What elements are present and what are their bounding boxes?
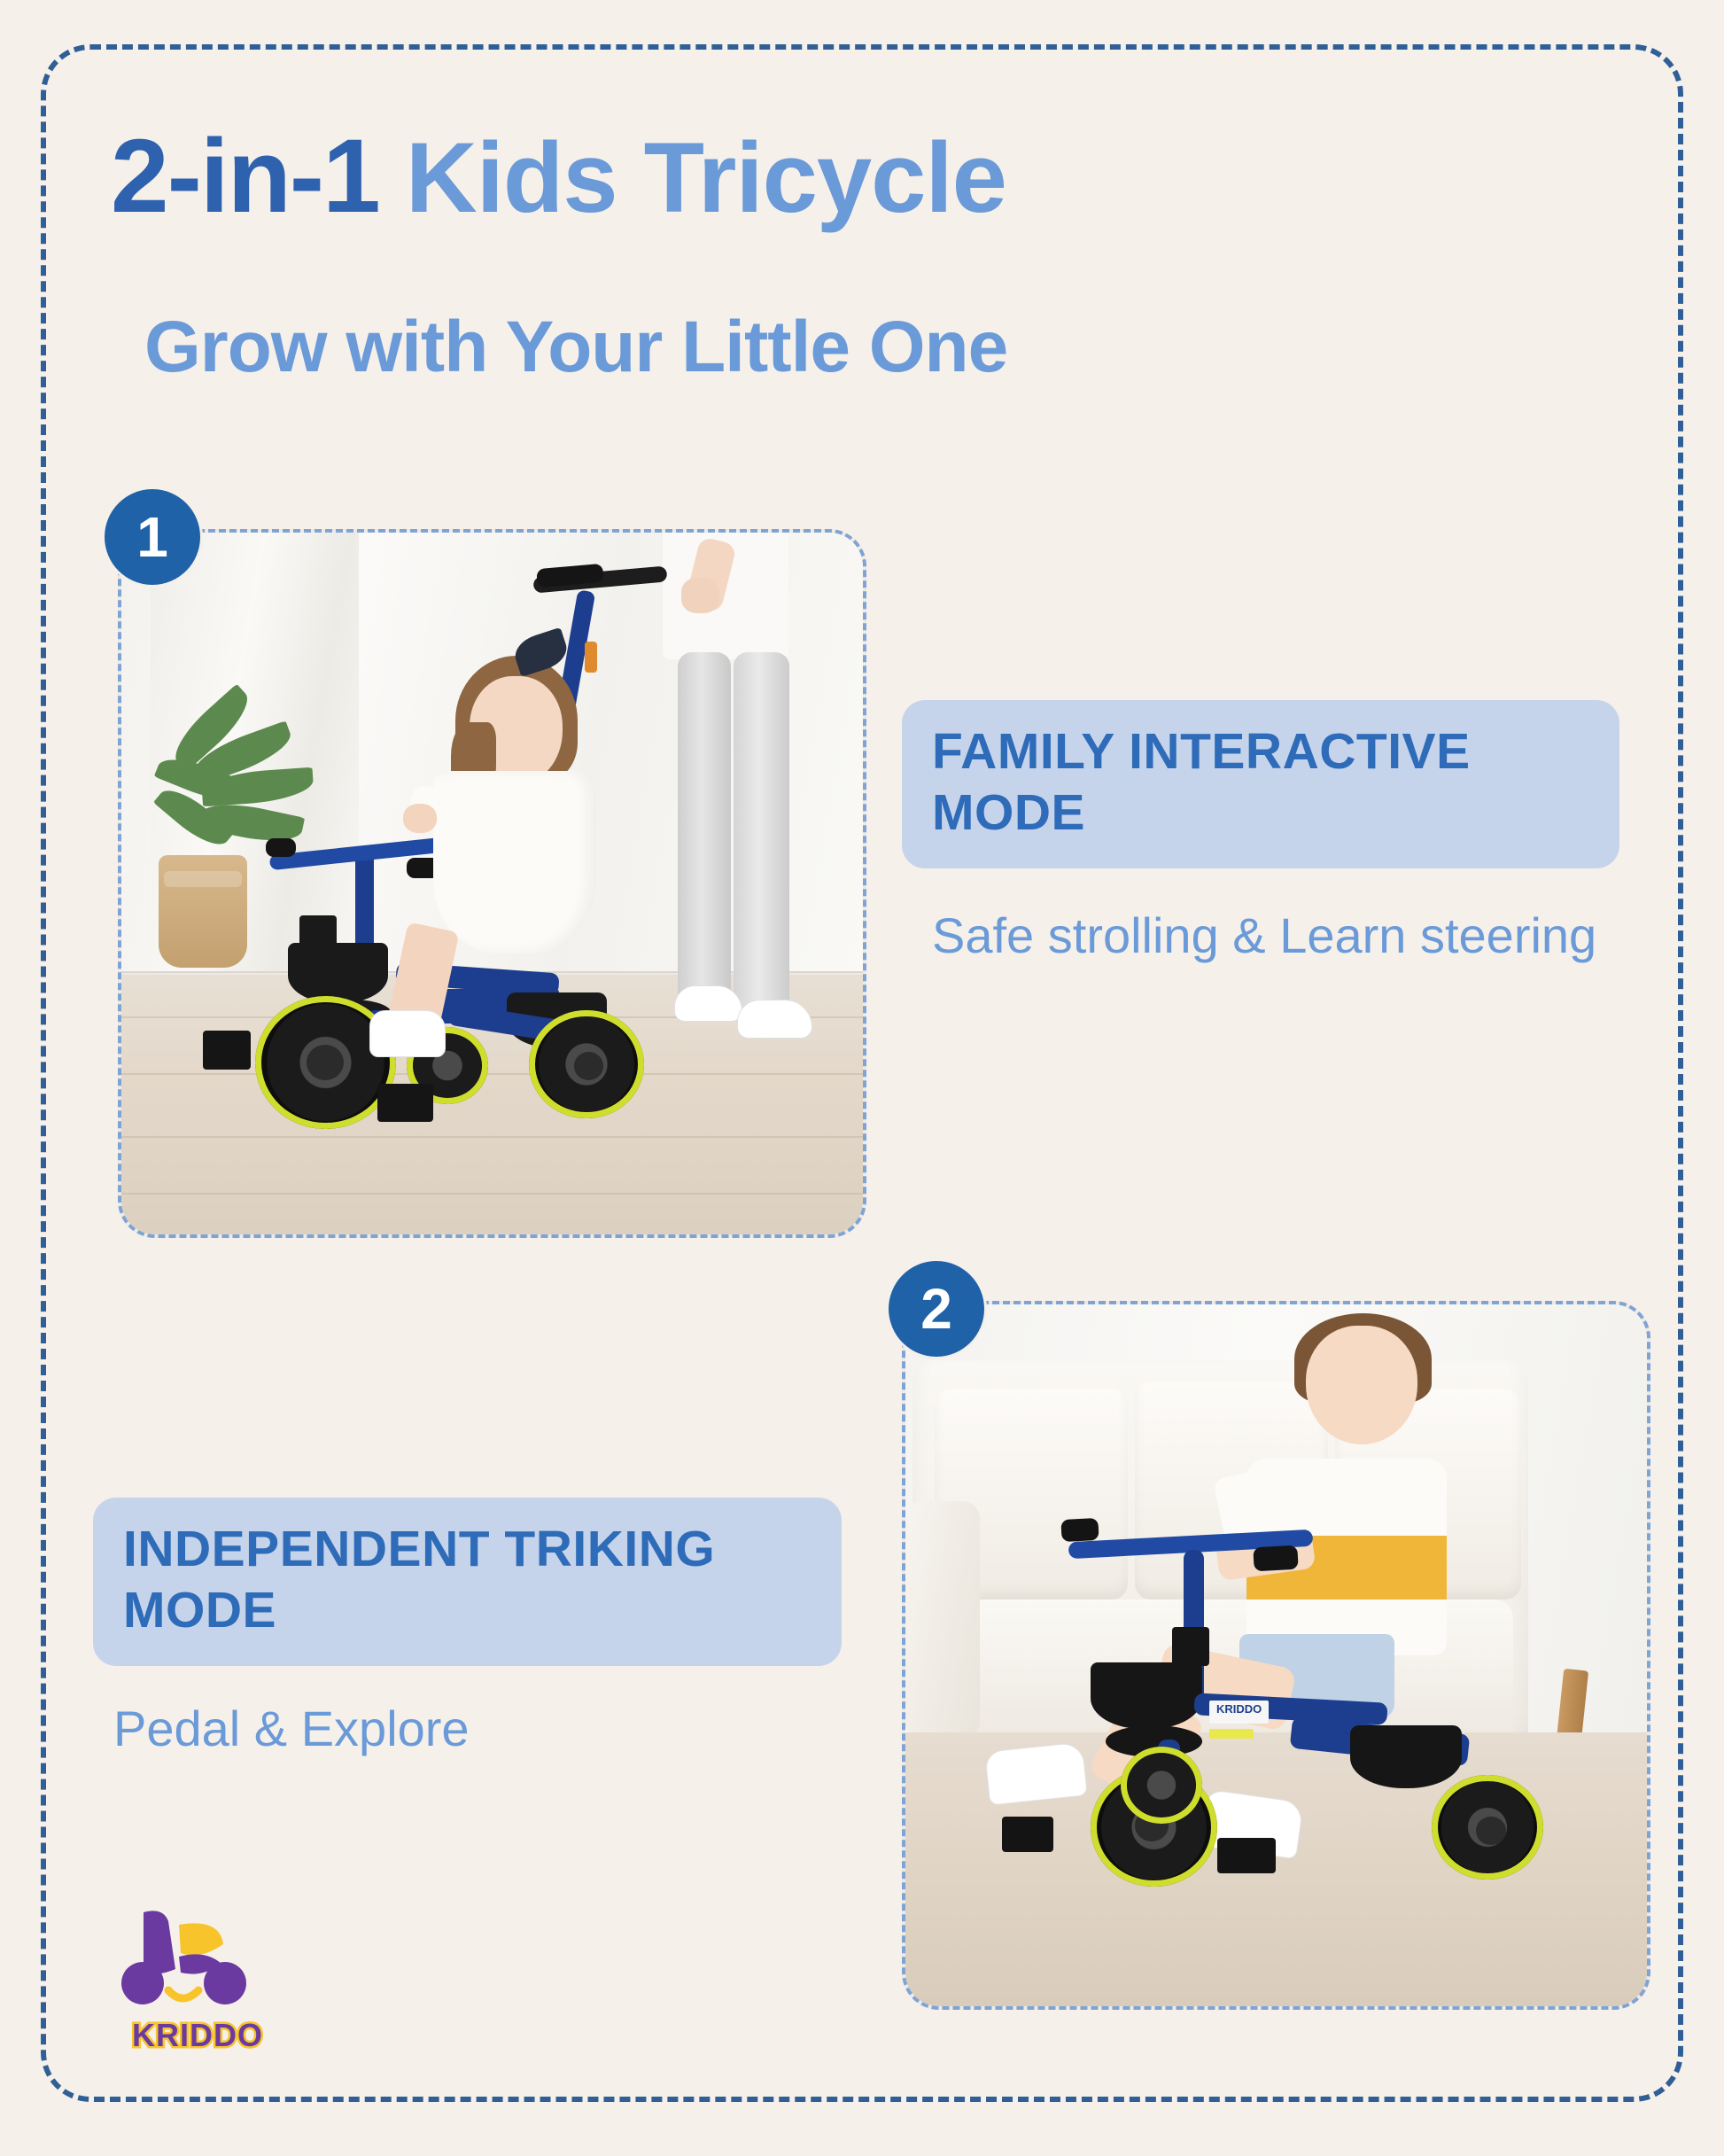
page-title: 2-in-1 Kids Tricycle: [111, 124, 1617, 229]
step-badge-1: 1: [105, 489, 200, 585]
brand-name: KRIDDO: [113, 2017, 282, 2054]
title-rest: Kids Tricycle: [379, 122, 1006, 233]
feature-photo-card-1: [118, 529, 866, 1238]
feature-title-1: FAMILY INTERACTIVE MODE: [902, 700, 1619, 868]
feature-title-2: INDEPENDENT TRIKING MODE: [93, 1498, 842, 1666]
feature-photo-card-2: KRIDDO: [902, 1301, 1650, 2010]
title-highlight: 2-in-1: [111, 118, 379, 235]
feature-photo-1: [121, 533, 863, 1234]
step-badge-2: 2: [889, 1261, 984, 1357]
kriddo-mark-icon: [113, 1905, 282, 2020]
brand-logo: KRIDDO: [113, 1905, 282, 2056]
feature-description-1: Safe strolling & Learn steering: [932, 904, 1632, 969]
feature-photo-2: KRIDDO: [905, 1304, 1647, 2006]
feature-description-2: Pedal & Explore: [113, 1697, 813, 1762]
product-infographic-poster: 2-in-1 Kids Tricycle Grow with Your Litt…: [0, 0, 1724, 2156]
page-subtitle: Grow with Your Little One: [144, 306, 1007, 389]
